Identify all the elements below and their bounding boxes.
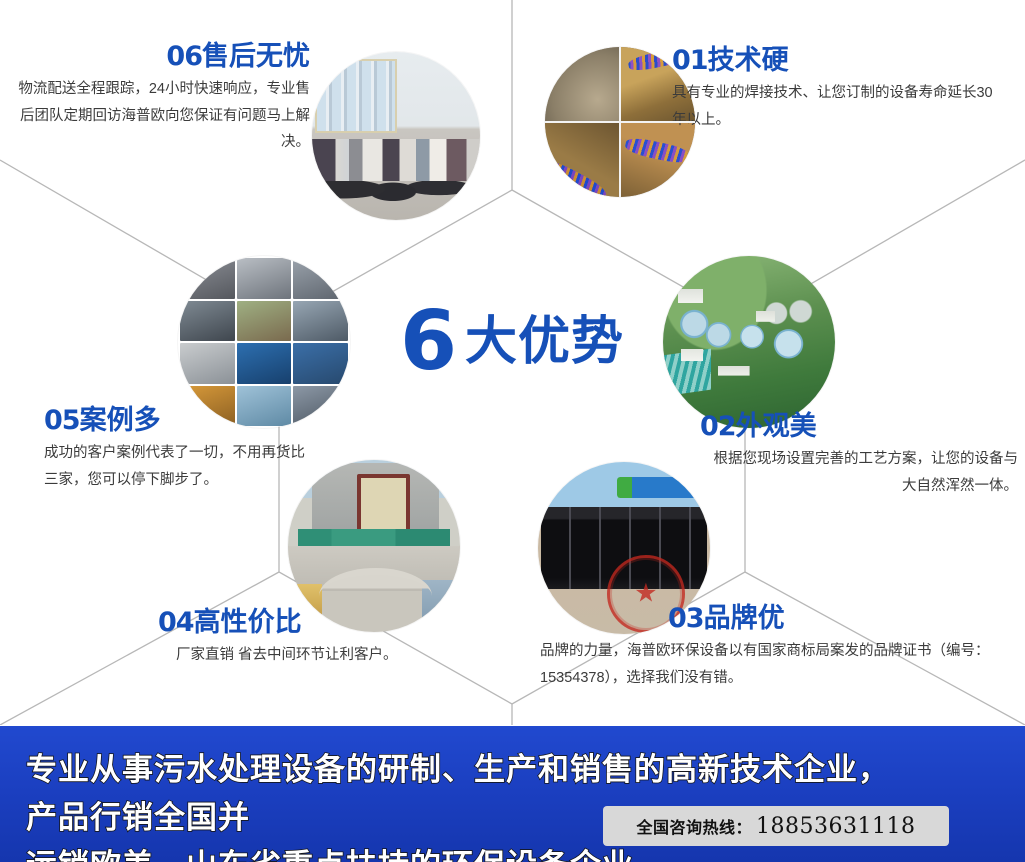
feature-body-02: 根据您现场设置完善的工艺方案，让您的设备与大自然浑然一体。 — [700, 446, 1018, 500]
feature-heading-05: 05案例多 — [44, 406, 314, 436]
feature-body-04: 厂家直销 省去中间环节让利客户。 — [158, 642, 458, 669]
feature-block-04[interactable]: 04高性价比 厂家直销 省去中间环节让利客户。 — [158, 608, 458, 669]
feature-heading-02: 02外观美 — [700, 412, 1018, 442]
feature-heading-04: 04高性价比 — [158, 608, 458, 638]
feature-body-01: 具有专业的焊接技术、让您订制的设备寿命延长30年以上。 — [672, 80, 1002, 134]
hotline-box[interactable]: 全国咨询热线： 18853631118 — [603, 806, 949, 846]
feature-title-01: 技术硬 — [708, 45, 789, 75]
feature-heading-06: 06售后无忧 — [10, 42, 310, 72]
feature-number-04: 04 — [158, 607, 194, 638]
feature-title-06: 售后无忧 — [202, 41, 310, 71]
feature-block-05[interactable]: 05案例多 成功的客户案例代表了一切，不用再货比三家，您可以停下脚步了。 — [44, 406, 314, 493]
feature-image-06 — [312, 52, 480, 220]
feature-image-02 — [663, 256, 835, 428]
feature-block-01[interactable]: 01技术硬 具有专业的焊接技术、让您订制的设备寿命延长30年以上。 — [672, 46, 1002, 133]
feature-number-03: 03 — [668, 603, 704, 634]
feature-heading-01: 01技术硬 — [672, 46, 1002, 76]
feature-block-06[interactable]: 06售后无忧 物流配送全程跟踪，24小时快速响应，专业售后团队定期回访海普欧向您… — [10, 42, 310, 156]
feature-block-02[interactable]: 02外观美 根据您现场设置完善的工艺方案，让您的设备与大自然浑然一体。 — [700, 412, 1018, 499]
feature-number-02: 02 — [700, 411, 736, 442]
infographic-canvas: 6 大优势 06售后无忧 物流配送全程跟踪，24小时快速响应，专业售后团队定期回… — [0, 0, 1025, 862]
feature-title-03: 品牌优 — [704, 603, 785, 633]
feature-image-04 — [288, 460, 460, 632]
feature-number-05: 05 — [44, 405, 80, 436]
center-word: 大优势 — [465, 316, 624, 368]
hotline-number: 18853631118 — [756, 814, 915, 839]
feature-title-04: 高性价比 — [194, 607, 302, 637]
feature-heading-03: 03品牌优 — [540, 604, 1010, 634]
feature-title-02: 外观美 — [736, 411, 817, 441]
feature-body-05: 成功的客户案例代表了一切，不用再货比三家，您可以停下脚步了。 — [44, 440, 314, 494]
feature-body-03: 品牌的力量，海普欧环保设备以有国家商标局案发的品牌证书（编号：15354378）… — [540, 638, 1010, 692]
center-number: 6 — [400, 303, 455, 381]
feature-image-01 — [545, 47, 695, 197]
feature-block-03[interactable]: 03品牌优 品牌的力量，海普欧环保设备以有国家商标局案发的品牌证书（编号：153… — [540, 604, 1010, 691]
center-title: 6 大优势 — [362, 296, 662, 388]
feature-image-05 — [178, 256, 350, 428]
feature-body-06: 物流配送全程跟踪，24小时快速响应，专业售后团队定期回访海普欧向您保证有问题马上… — [10, 76, 310, 156]
feature-number-06: 06 — [166, 41, 202, 72]
hotline-label: 全国咨询热线： — [637, 814, 753, 838]
feature-title-05: 案例多 — [80, 405, 161, 435]
